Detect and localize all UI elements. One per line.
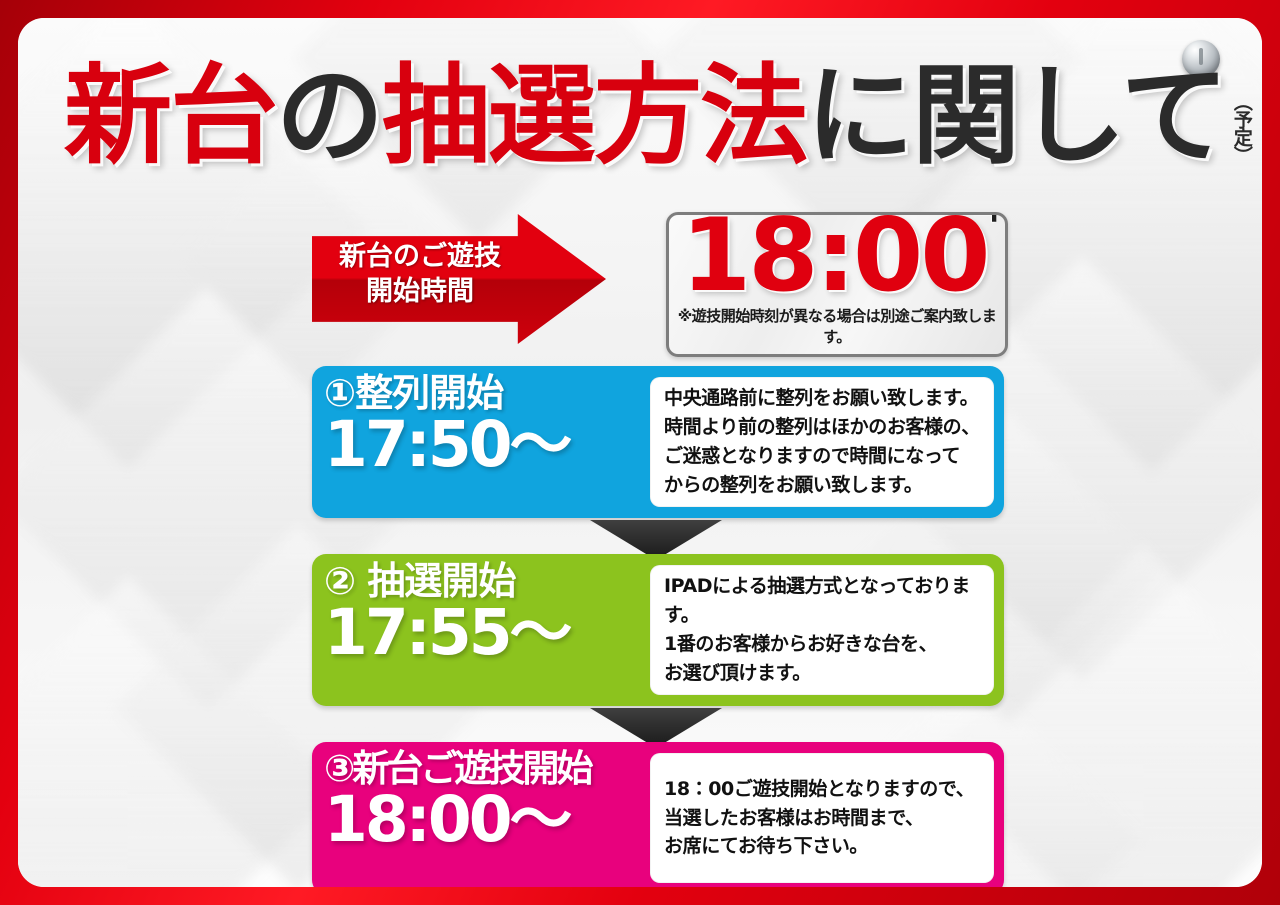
page-title: 新台 の 抽選方法 に関して （予定） <box>64 42 1216 192</box>
arrow-banner-line1: 新台のご遊技 <box>320 240 520 275</box>
title-part-red-2: 抽選方法 <box>382 63 806 171</box>
step-3-description-box: 18：00ご遊技開始となりますので、 当選したお客様はお時間まで、 お席にてお待… <box>650 753 994 883</box>
step-row-2: ② 抽選開始 17:55〜 IPADによる抽選方式となっております。 1番のお客… <box>312 554 1004 706</box>
step-3-left: ③新台ご遊技開始 18:00〜 <box>324 748 646 853</box>
step-2-left: ② 抽選開始 17:55〜 <box>324 560 646 666</box>
start-time-arrow-banner: 新台のご遊技 開始時間 <box>312 214 606 344</box>
step-1-description-box: 中央通路前に整列をお願い致します。 時間より前の整列はほかのお客様の、 ご迷惑と… <box>650 377 994 507</box>
arrow-banner-text: 新台のご遊技 開始時間 <box>320 240 520 309</box>
start-time-note: ※遊技開始時刻が異なる場合は別途ご案内致します。 <box>669 305 1005 347</box>
step-1-left: ①整列開始 17:50〜 <box>324 372 646 478</box>
step-1-time: 17:50〜 <box>324 412 646 478</box>
poster-inner-panel: 新台 の 抽選方法 に関して （予定） 新台のご遊技 開始時間 18:00 ST… <box>18 18 1262 887</box>
step-2-description: IPADによる抽選方式となっております。 1番のお客様からお好きな台を、 お選び… <box>650 572 994 688</box>
step-row-3: ③新台ご遊技開始 18:00〜 18：00ご遊技開始となりますので、 当選したお… <box>312 742 1004 887</box>
step-1-description: 中央通路前に整列をお願い致します。 時間より前の整列はほかのお客様の、 ご迷惑と… <box>650 384 980 500</box>
arrow-banner-line2: 開始時間 <box>320 275 520 310</box>
start-time-box: 18:00 START ※遊技開始時刻が異なる場合は別途ご案内致します。 <box>666 212 1008 357</box>
title-part-black-1: の <box>276 63 382 171</box>
step-3-time: 18:00〜 <box>324 787 646 853</box>
title-part-black-2: に関して <box>806 63 1227 171</box>
poster-root: 新台 の 抽選方法 に関して （予定） 新台のご遊技 開始時間 18:00 ST… <box>0 0 1280 905</box>
start-label: START <box>966 212 1001 223</box>
start-time-value: 18:00 <box>681 212 988 306</box>
step-3-description: 18：00ご遊技開始となりますので、 当選したお客様はお時間まで、 お席にてお待… <box>650 775 974 862</box>
step-2-time: 17:55〜 <box>324 600 646 666</box>
title-annotation: （予定） <box>1233 92 1251 164</box>
title-part-red-1: 新台 <box>64 63 276 171</box>
step-2-description-box: IPADによる抽選方式となっております。 1番のお客様からお好きな台を、 お選び… <box>650 565 994 695</box>
step-row-1: ①整列開始 17:50〜 中央通路前に整列をお願い致します。 時間より前の整列は… <box>312 366 1004 518</box>
